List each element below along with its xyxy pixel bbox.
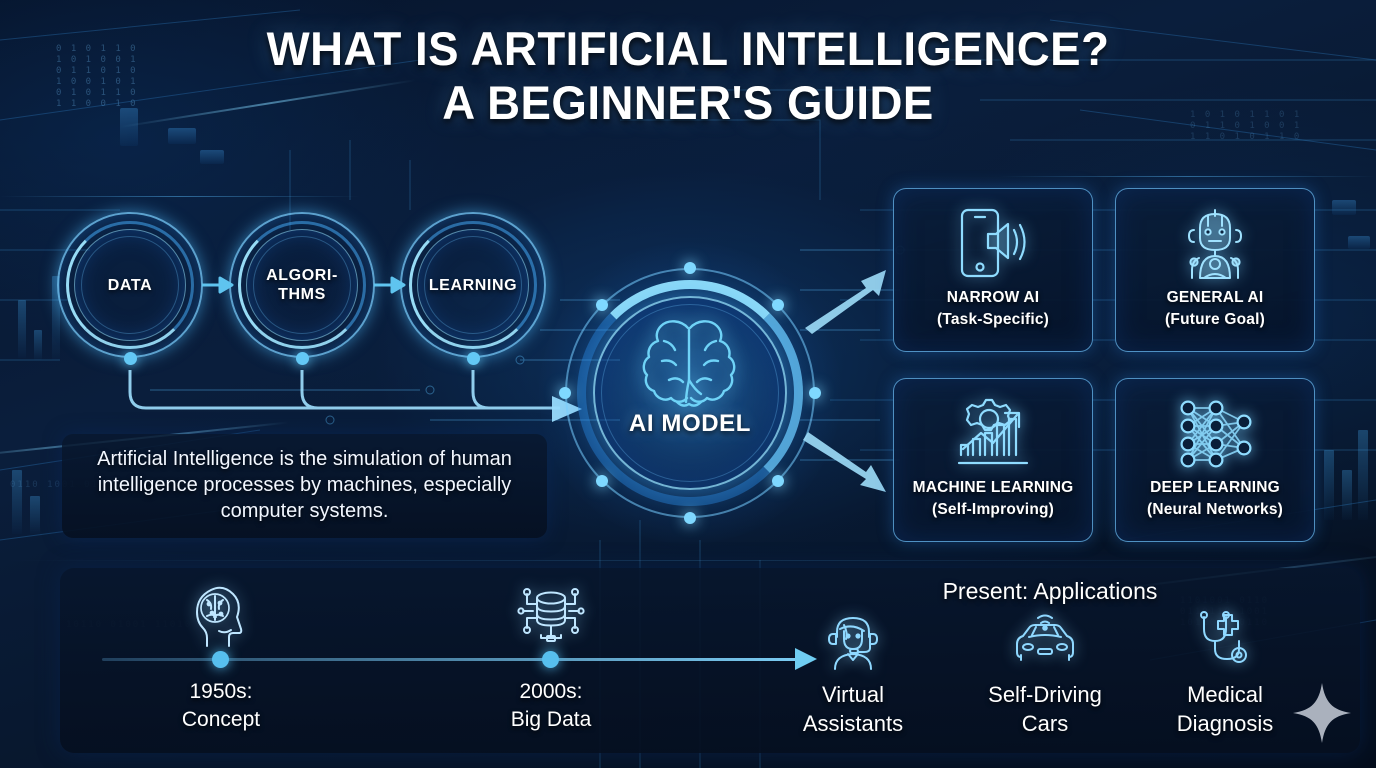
card-title: GENERAL AI xyxy=(1167,288,1264,308)
card-title: NARROW AI xyxy=(947,288,1040,308)
ai-definition-box: Artificial Intelligence is the simulatio… xyxy=(62,434,547,538)
robot-icon xyxy=(1173,202,1257,286)
applications-heading: Present: Applications xyxy=(800,578,1300,605)
title-line-1: WHAT IS ARTIFICIAL INTELLIGENCE? xyxy=(21,22,1356,76)
application-text: Self-Driving Cars xyxy=(950,680,1140,738)
node-label-line1: ALGORI- xyxy=(266,266,338,285)
application-line2: Assistants xyxy=(758,709,948,738)
database-stack-icon xyxy=(456,578,646,652)
page-title: WHAT IS ARTIFICIAL INTELLIGENCE? A BEGIN… xyxy=(0,22,1376,130)
card-title: DEEP LEARNING xyxy=(1150,478,1280,498)
four-point-star-icon xyxy=(1292,682,1352,744)
core-node-dot xyxy=(596,299,608,311)
core-node-dot xyxy=(772,475,784,487)
ai-model-core[interactable]: AI MODEL xyxy=(565,268,815,518)
pipeline-node-label: DATA xyxy=(57,212,203,358)
smartphone-voice-assistant-icon xyxy=(951,202,1035,286)
arrow-right-icon xyxy=(374,276,408,294)
timeline-milestone-text: 1950s: Concept xyxy=(126,678,316,734)
core-node-dot xyxy=(559,387,571,399)
card-subtitle: (Task-Specific) xyxy=(937,310,1049,330)
application-virtual-assistants[interactable]: Virtual Assistants xyxy=(758,608,948,738)
ai-model-label: AI MODEL xyxy=(565,410,815,438)
node-connector-dot xyxy=(296,352,309,365)
card-general-ai[interactable]: GENERAL AI (Future Goal) xyxy=(1115,188,1315,352)
node-label-line1: LEARNING xyxy=(429,276,517,295)
core-node-dot xyxy=(809,387,821,399)
card-deep-learning[interactable]: DEEP LEARNING (Neural Networks) xyxy=(1115,378,1315,542)
ai-definition-text: Artificial Intelligence is the simulatio… xyxy=(80,446,529,524)
core-node-dot xyxy=(684,512,696,524)
card-subtitle: (Future Goal) xyxy=(1165,310,1265,330)
timeline-label: Concept xyxy=(126,706,316,734)
head-brain-icon xyxy=(126,578,316,652)
neural-network-icon xyxy=(1173,392,1257,476)
infographic-canvas: 0 1 0 1 1 0 1 0 1 0 0 1 0 1 1 0 1 0 1 0 … xyxy=(0,0,1376,768)
application-self-driving-cars[interactable]: Self-Driving Cars xyxy=(950,608,1140,738)
timeline-milestone-text: 2000s: Big Data xyxy=(456,678,646,734)
card-subtitle: (Neural Networks) xyxy=(1147,500,1283,520)
pipeline-node-label: LEARNING xyxy=(400,212,546,358)
application-line2: Cars xyxy=(950,709,1140,738)
card-narrow-ai[interactable]: NARROW AI (Task-Specific) xyxy=(893,188,1093,352)
application-line1: Virtual xyxy=(758,680,948,709)
headset-agent-icon xyxy=(758,608,948,674)
title-line-2: A BEGINNER'S GUIDE xyxy=(21,76,1356,130)
arrow-right-icon xyxy=(202,276,236,294)
gear-growth-chart-icon xyxy=(951,392,1035,476)
core-node-dot xyxy=(596,475,608,487)
pipeline-node-data[interactable]: DATA xyxy=(57,212,203,358)
node-connector-dot xyxy=(467,352,480,365)
card-subtitle: (Self-Improving) xyxy=(932,500,1054,520)
card-title: MACHINE LEARNING xyxy=(913,478,1074,498)
autonomous-car-icon xyxy=(950,608,1140,674)
timeline-milestone-2000s[interactable]: 2000s: Big Data xyxy=(456,578,646,734)
node-label-line1: DATA xyxy=(108,276,152,295)
card-machine-learning[interactable]: MACHINE LEARNING (Self-Improving) xyxy=(893,378,1093,542)
application-text: Virtual Assistants xyxy=(758,680,948,738)
application-line1: Self-Driving xyxy=(950,680,1140,709)
core-node-dot xyxy=(684,262,696,274)
timeline-era: 2000s: xyxy=(456,678,646,706)
pipeline-node-learning[interactable]: LEARNING xyxy=(400,212,546,358)
brain-icon xyxy=(631,316,749,416)
timeline-era: 1950s: xyxy=(126,678,316,706)
node-label-line2: THMS xyxy=(278,285,326,304)
timeline-milestone-1950s[interactable]: 1950s: Concept xyxy=(126,578,316,734)
pipeline-node-label: ALGORI- THMS xyxy=(229,212,375,358)
core-node-dot xyxy=(772,299,784,311)
stethoscope-medical-icon xyxy=(1130,608,1320,674)
node-connector-dot xyxy=(124,352,137,365)
timeline-label: Big Data xyxy=(456,706,646,734)
pipeline-node-algorithms[interactable]: ALGORI- THMS xyxy=(229,212,375,358)
